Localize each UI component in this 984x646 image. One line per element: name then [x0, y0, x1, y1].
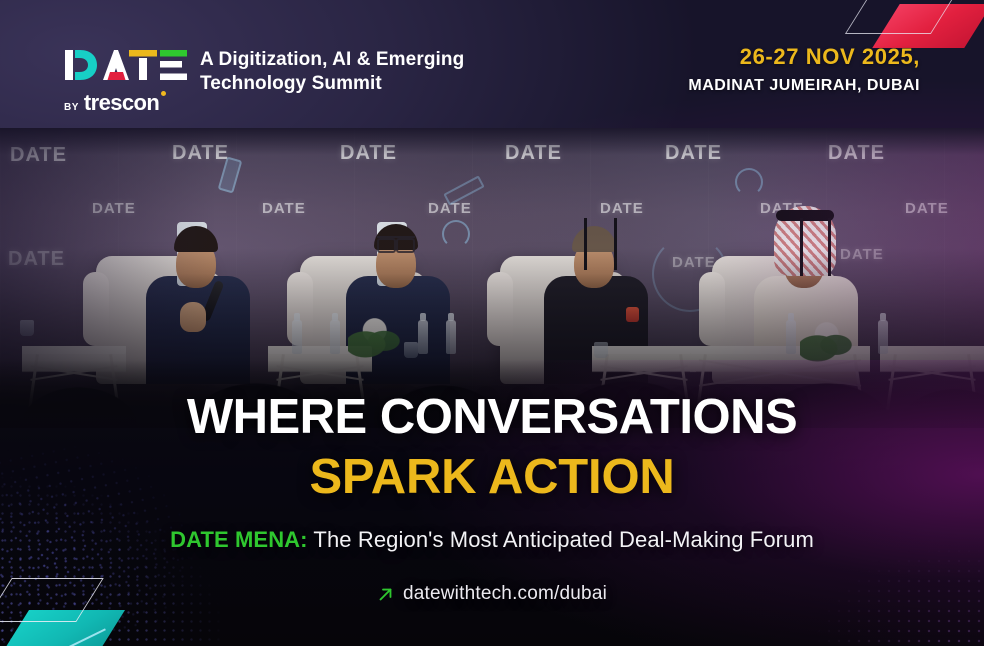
- byline-dot: [161, 91, 166, 96]
- cta-url[interactable]: datewithtech.com/dubai: [0, 583, 984, 605]
- event-promo-banner: DATE DATE DATE DATE DATE DATE DATE DATE …: [0, 0, 984, 646]
- logo-byline: BY trescon: [64, 90, 188, 116]
- event-dates: 26-27 NOV 2025,: [688, 44, 920, 70]
- subheadline: DATE MENA: The Region's Most Anticipated…: [0, 527, 984, 553]
- byline-prefix: BY: [64, 102, 79, 113]
- headline-line-2: SPARK ACTION: [0, 452, 984, 504]
- arrow-up-right-icon: [377, 586, 394, 603]
- byline-name: trescon: [84, 90, 159, 116]
- event-details: 26-27 NOV 2025, MADINAT JUMEIRAH, DUBAI: [688, 44, 920, 95]
- headline-line-1: WHERE CONVERSATIONS: [0, 392, 984, 444]
- subheadline-brand: DATE MENA:: [170, 527, 307, 552]
- headline: WHERE CONVERSATIONS SPARK ACTION: [0, 392, 984, 504]
- cta-url-text[interactable]: datewithtech.com/dubai: [403, 583, 607, 605]
- date-logo-mark: [64, 44, 188, 86]
- subheadline-text: The Region's Most Anticipated Deal-Makin…: [313, 527, 813, 552]
- brand-logo[interactable]: BY trescon: [64, 44, 188, 116]
- brand-tagline: A Digitization, AI & Emerging Technology…: [200, 48, 470, 97]
- event-venue: MADINAT JUMEIRAH, DUBAI: [688, 77, 920, 95]
